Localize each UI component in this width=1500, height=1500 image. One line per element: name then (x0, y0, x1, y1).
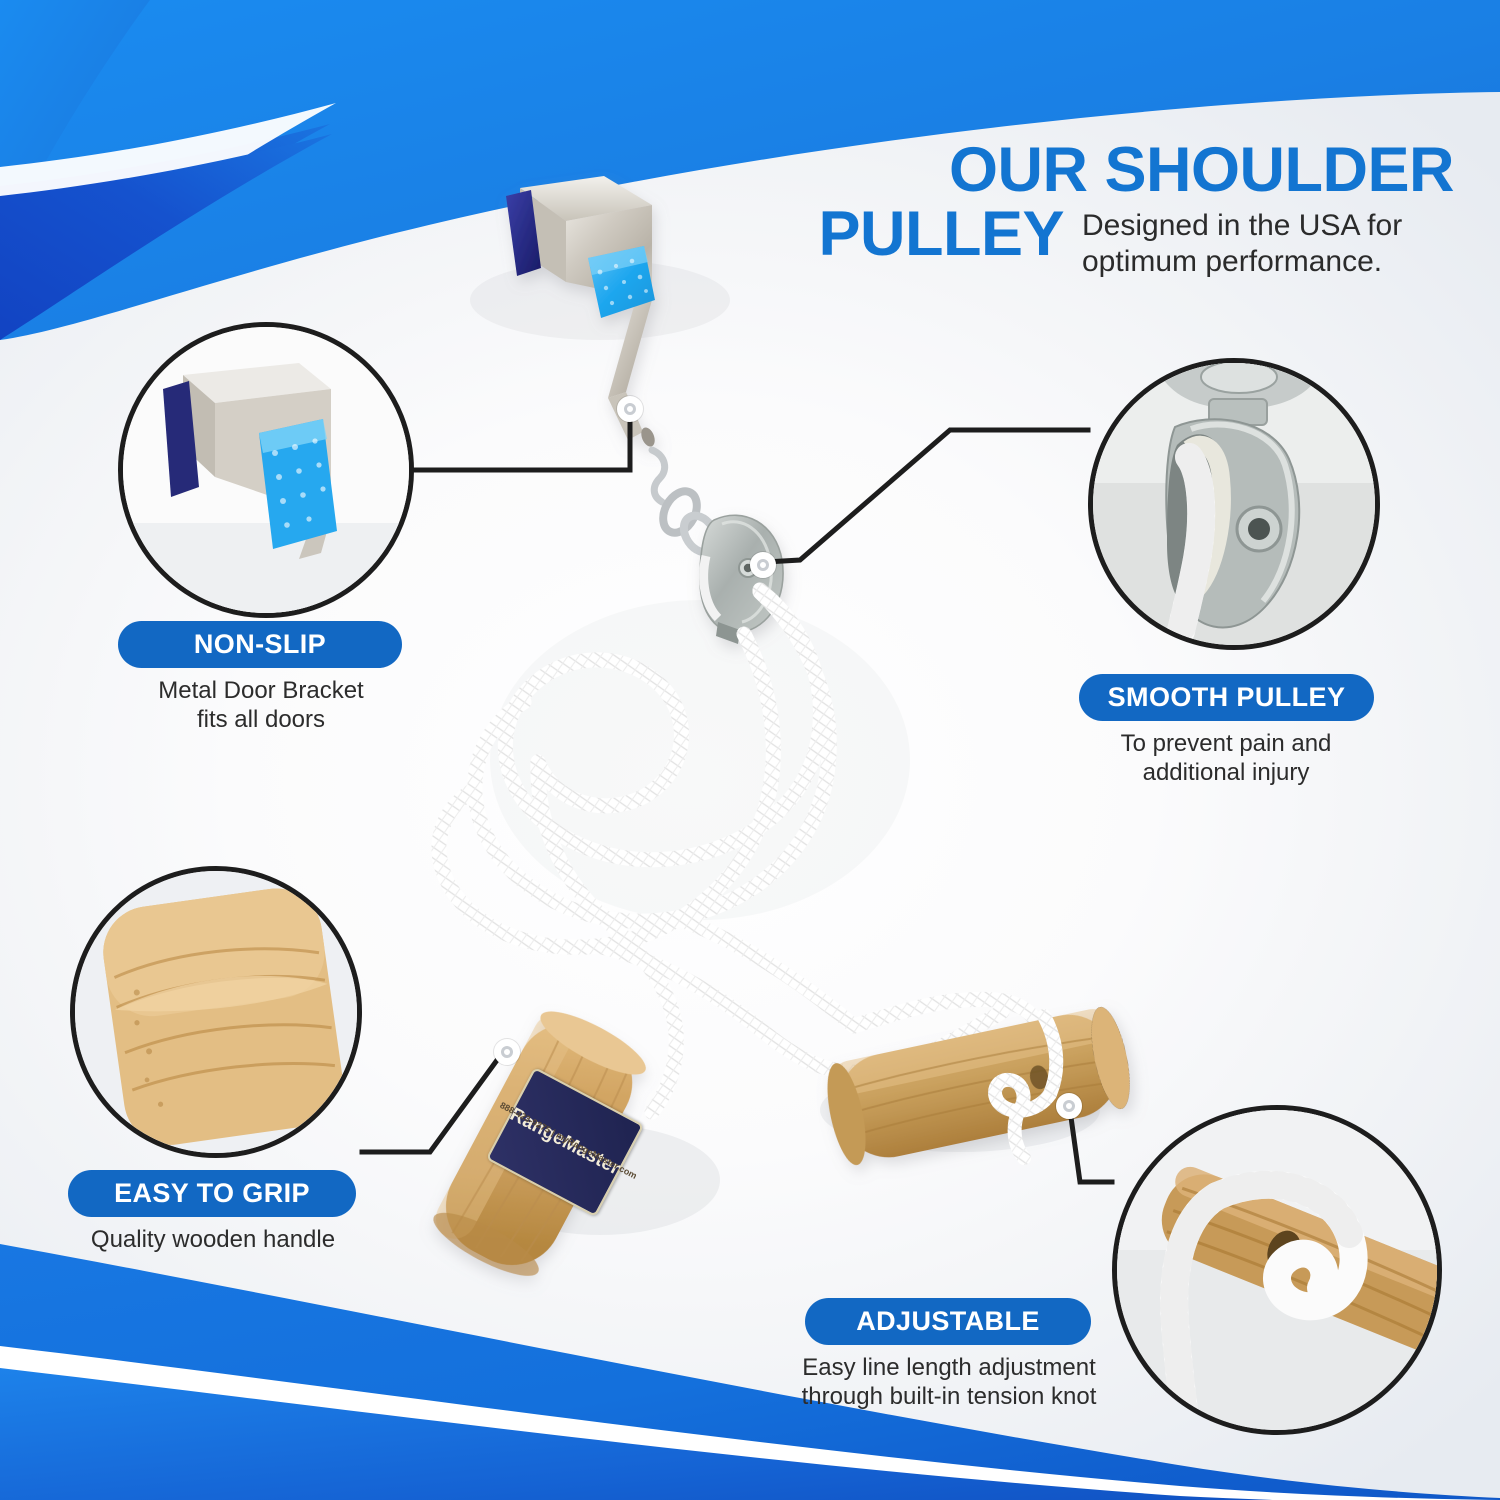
caption-smooth-pulley-line2: additional injury (1060, 758, 1392, 787)
callout-photo-smooth-pulley (1088, 358, 1380, 650)
leader-line-adjustable (1070, 1110, 1112, 1182)
hotspot-dot-non-slip[interactable] (617, 396, 643, 422)
infographic-canvas: RangeMaster 888-423-9275 | myRangeMaster… (0, 0, 1500, 1500)
page-title-line2: PULLEY (818, 204, 1064, 266)
caption-easy-to-grip-line1: Quality wooden handle (40, 1225, 386, 1254)
caption-smooth-pulley: To prevent pain and additional injury (1060, 729, 1392, 788)
page-title-line1: OUR SHOULDER (742, 140, 1454, 202)
badge-easy-to-grip: EASY TO GRIP (68, 1170, 356, 1217)
caption-non-slip: Metal Door Bracket fits all doors (70, 676, 452, 735)
badge-non-slip: NON-SLIP (118, 621, 402, 668)
caption-adjustable: Easy line length adjustment through buil… (760, 1353, 1138, 1412)
caption-smooth-pulley-line1: To prevent pain and (1060, 729, 1392, 758)
hotspot-dot-smooth-pulley[interactable] (750, 552, 776, 578)
badge-smooth-pulley: SMOOTH PULLEY (1079, 674, 1374, 721)
callout-photo-adjustable (1112, 1105, 1442, 1435)
leader-line-nonslip (414, 412, 630, 470)
page-subtitle: Designed in the USA for optimum performa… (1082, 204, 1454, 281)
caption-easy-to-grip: Quality wooden handle (40, 1225, 386, 1254)
heading-block: OUR SHOULDER PULLEY Designed in the USA … (742, 140, 1454, 281)
callout-photo-non-slip (118, 322, 414, 618)
callout-photo-easy-to-grip (70, 866, 362, 1158)
badge-adjustable: ADJUSTABLE (805, 1298, 1091, 1345)
caption-non-slip-line1: Metal Door Bracket (70, 676, 452, 705)
leader-line-smooth-pulley (766, 430, 1088, 562)
hotspot-dot-adjustable[interactable] (1056, 1093, 1082, 1119)
hotspot-dot-easy-to-grip[interactable] (494, 1039, 520, 1065)
caption-adjustable-line1: Easy line length adjustment (760, 1353, 1138, 1382)
caption-adjustable-line2: through built-in tension knot (760, 1382, 1138, 1411)
caption-non-slip-line2: fits all doors (70, 705, 452, 734)
leader-line-easy-grip (362, 1056, 500, 1152)
